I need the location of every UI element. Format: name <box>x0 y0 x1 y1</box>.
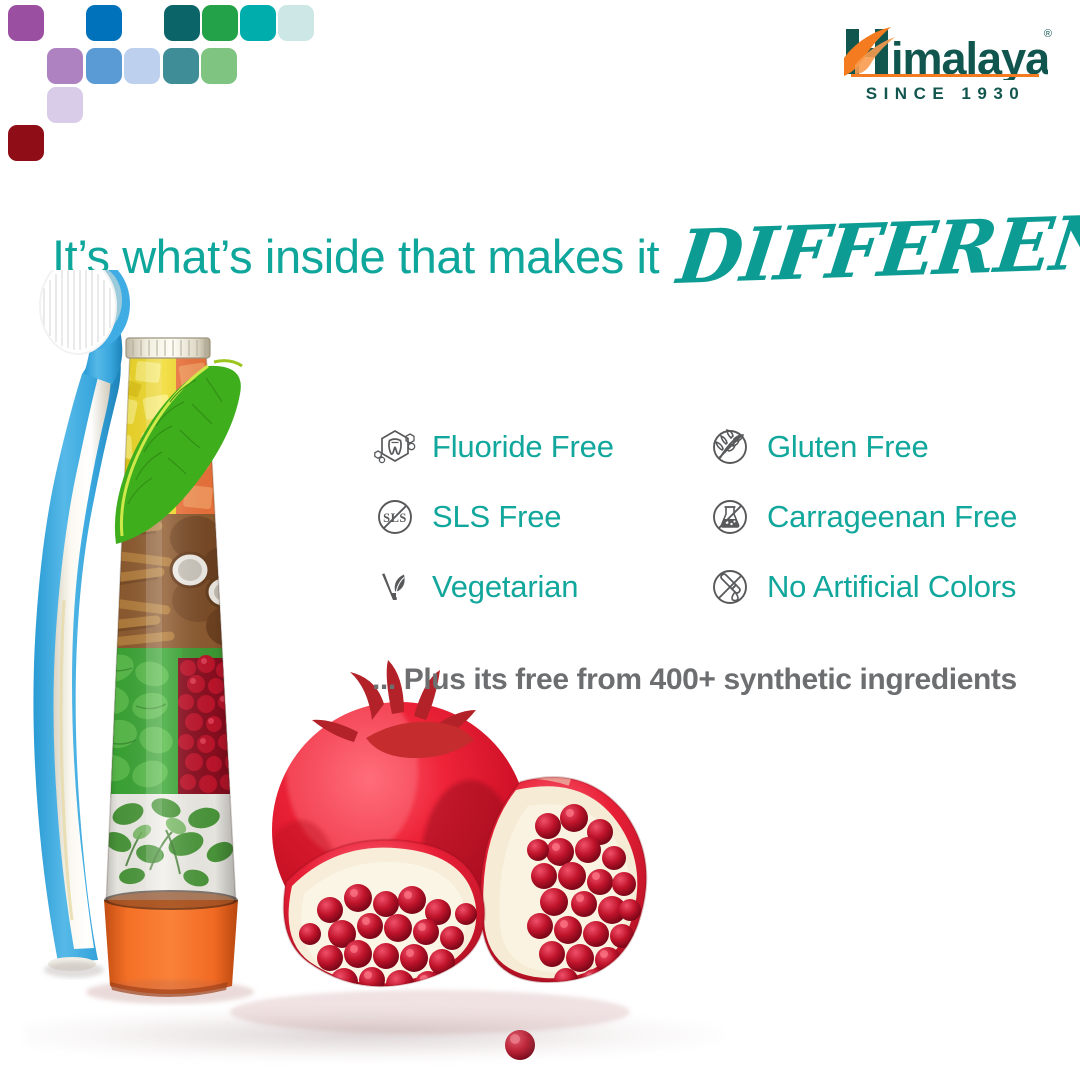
feature-label: Fluoride Free <box>432 429 614 465</box>
floor-shadow <box>25 1008 725 1062</box>
decorative-tile-mosaic <box>0 0 340 170</box>
open-pomegranate-half-right <box>480 775 646 995</box>
registered-trademark-icon: ® <box>1044 28 1052 40</box>
no-artificial-colors-dropper-crossed-icon <box>707 564 753 610</box>
logo-wordmark: imalaya ® <box>843 24 1048 78</box>
dark-teal-tile <box>164 5 200 41</box>
slate-teal-tile <box>163 48 199 84</box>
purple-tile <box>8 5 44 41</box>
feature-label: No Artificial Colors <box>767 569 1016 605</box>
fluoride-free-tooth-hexagon-icon <box>372 424 418 470</box>
pale-teal-tile <box>278 5 314 41</box>
feature-item-vegetarian[interactable]: Vegetarian <box>372 552 712 622</box>
feature-item-gluten-free[interactable]: Gluten Free <box>707 412 1047 482</box>
tube-shadow <box>86 980 254 1004</box>
toothbrush-bristles <box>40 270 116 354</box>
toothpaste-tube <box>86 338 254 1004</box>
pomegranate-group <box>230 660 646 1060</box>
svg-text:SLS: SLS <box>383 511 407 525</box>
feature-item-carrageenan-free[interactable]: Carrageenan Free <box>707 482 1047 552</box>
light-green-tile <box>201 48 237 84</box>
feature-column-right: Gluten Free Carr <box>707 412 1047 622</box>
gluten-free-wheat-crossed-icon <box>707 424 753 470</box>
feature-item-fluoride-free[interactable]: Fluoride Free <box>372 412 712 482</box>
feature-label: Gluten Free <box>767 429 929 465</box>
dark-red-tile <box>8 125 44 161</box>
carrageenan-free-beaker-crossed-icon <box>707 494 753 540</box>
light-purple-tile <box>47 48 83 84</box>
feature-label: Vegetarian <box>432 569 578 605</box>
lavender-tile <box>47 87 83 123</box>
logo-divider-rule <box>851 74 1039 77</box>
advertisement-canvas: imalaya ® SINCE 1930 It’s what’s inside … <box>0 0 1080 1080</box>
logo-since-text: SINCE 1930 <box>843 84 1048 104</box>
vegetarian-leaf-v-icon <box>372 564 418 610</box>
blue-tile <box>86 5 122 41</box>
feature-item-no-artificial-colors[interactable]: No Artificial Colors <box>707 552 1047 622</box>
feature-label: SLS Free <box>432 499 561 535</box>
feature-item-sls-free[interactable]: SLS SLS Free <box>372 482 712 552</box>
sls-free-crossed-circle-icon: SLS <box>372 494 418 540</box>
toothbrush-shadow <box>44 962 104 978</box>
feature-label: Carrageenan Free <box>767 499 1017 535</box>
green-tile <box>202 5 238 41</box>
himalaya-logo-svg: imalaya <box>843 24 1048 80</box>
teal-tile <box>240 5 276 41</box>
synthetic-ingredients-tagline: ... Plus its free from 400+ synthetic in… <box>372 663 1017 697</box>
tube-crimp-seal <box>126 338 210 358</box>
pale-blue-tile <box>124 48 160 84</box>
feature-list: Fluoride Free SLS SLS Free <box>372 412 1052 622</box>
himalaya-logo[interactable]: imalaya ® SINCE 1930 <box>843 24 1048 106</box>
mid-blue-tile <box>86 48 122 84</box>
feature-column-left: Fluoride Free SLS SLS Free <box>372 412 712 622</box>
svg-text:imalaya: imalaya <box>891 33 1048 80</box>
